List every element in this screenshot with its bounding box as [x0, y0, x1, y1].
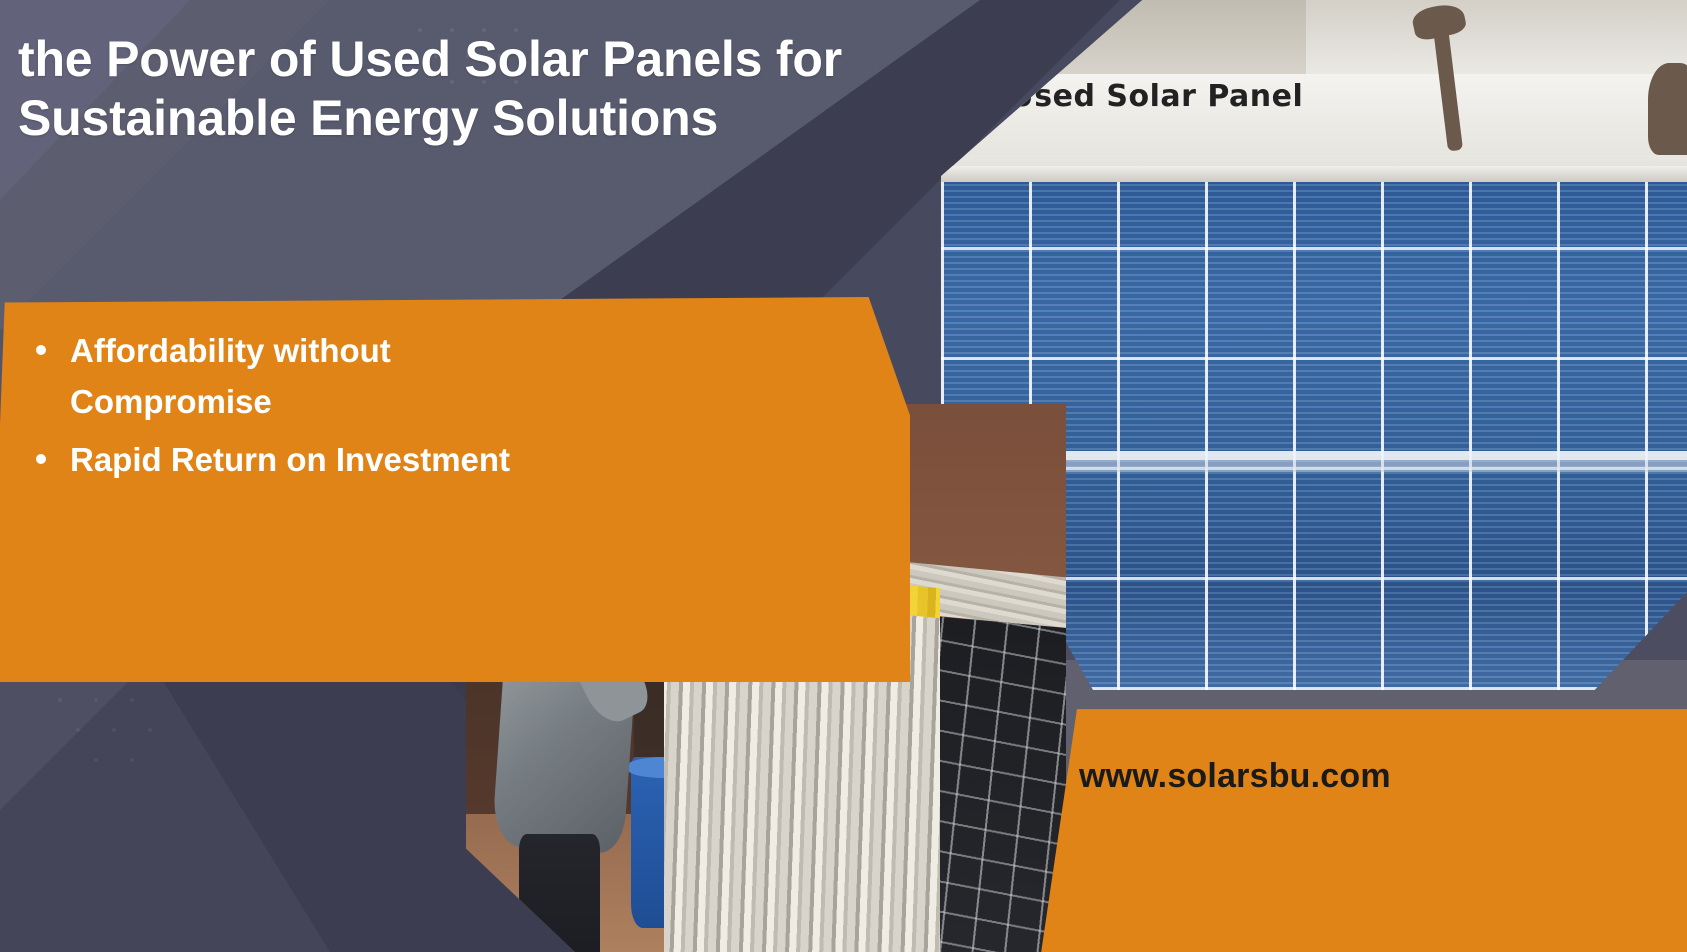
list-item-label: Affordability without Compromise: [70, 332, 391, 420]
photo-animal: [1405, 0, 1489, 151]
photo-sign-caption: Used Solar Panel: [1009, 79, 1303, 114]
bullet-dot-icon: [36, 454, 46, 464]
bullet-dot-icon: [36, 345, 46, 355]
orange-footer-block: [1040, 700, 1687, 952]
website-url[interactable]: www.solarsbu.com: [1079, 757, 1391, 796]
photo-animal-secondary: [1648, 63, 1687, 155]
benefits-list: Affordability without Compromise Rapid R…: [22, 325, 582, 491]
list-item: Rapid Return on Investment: [22, 434, 582, 485]
list-item: Affordability without Compromise: [22, 325, 582, 428]
list-item-label: Rapid Return on Investment: [70, 441, 510, 478]
marketing-banner: Used Solar Panel: [0, 0, 1687, 952]
photo-panel-frame-top: [941, 166, 1687, 183]
page-title: the Power of Used Solar Panels for Susta…: [18, 30, 1008, 148]
